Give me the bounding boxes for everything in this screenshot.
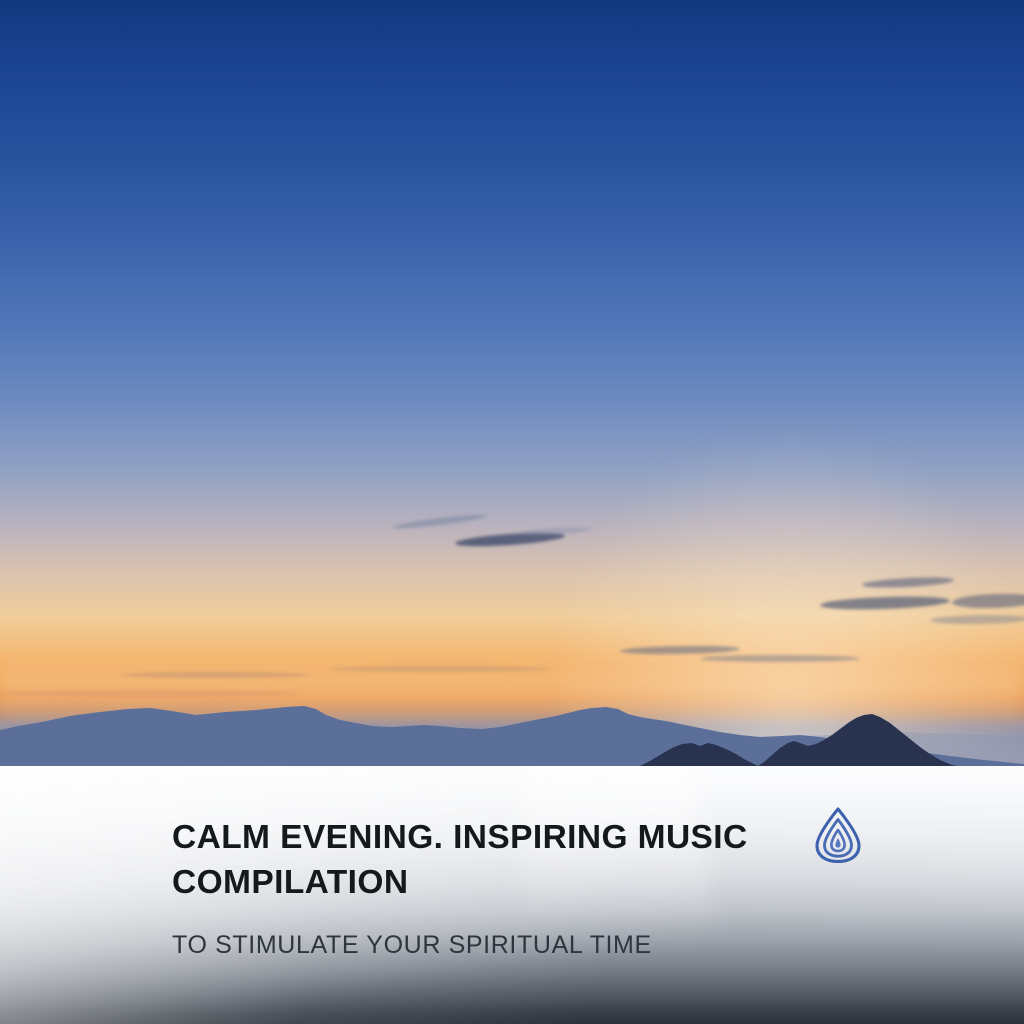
- cloud: [700, 655, 860, 662]
- album-title: CALM EVENING. INSPIRING MUSIC COMPILATIO…: [172, 816, 792, 905]
- cloud: [120, 672, 310, 678]
- info-panel: CALM EVENING. INSPIRING MUSIC COMPILATIO…: [0, 766, 1024, 1024]
- album-cover: CALM EVENING. INSPIRING MUSIC COMPILATIO…: [0, 0, 1024, 1024]
- cloud: [330, 666, 550, 672]
- water-droplet-icon: [812, 806, 864, 864]
- album-subtitle: TO STIMULATE YOUR SPIRITUAL TIME: [172, 931, 1024, 960]
